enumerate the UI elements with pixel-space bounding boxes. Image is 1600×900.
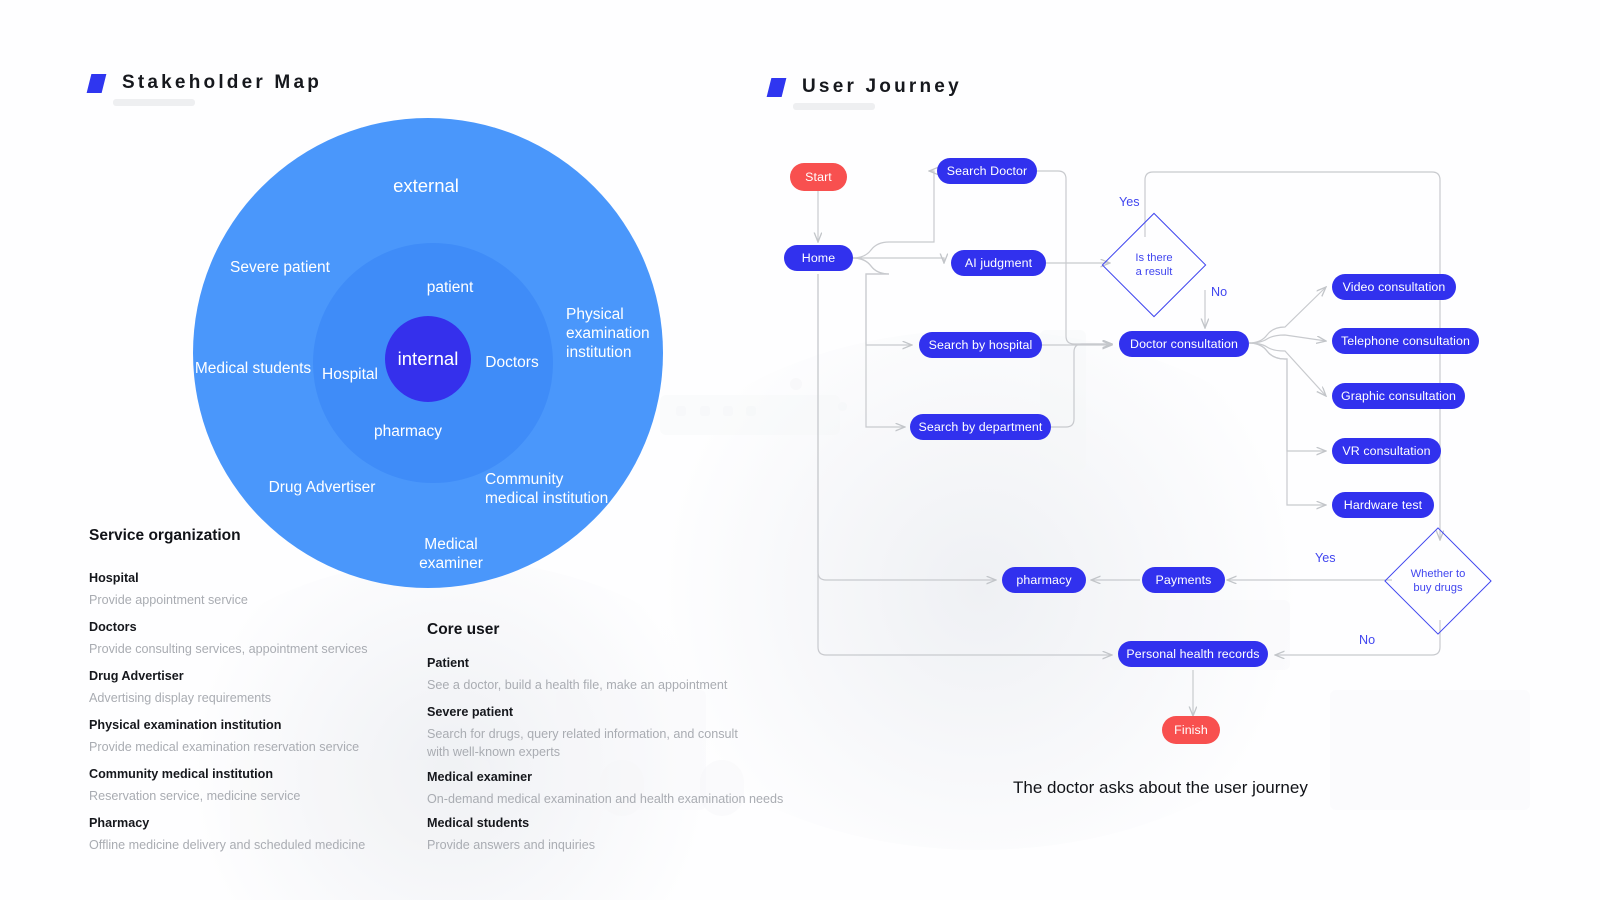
decision-label: Whether to buy drugs	[1411, 567, 1466, 596]
flow-node-pharmacy[interactable]: pharmacy	[1002, 567, 1086, 593]
edge-label-no-result: No	[1211, 285, 1227, 299]
service-org-desc: Provide appointment service	[89, 592, 489, 610]
flow-node-vr-consultation[interactable]: VR consultation	[1332, 438, 1441, 464]
core-user-desc: Search for drugs, query related informat…	[427, 726, 757, 762]
section-underline-journey	[793, 103, 875, 110]
ring-label-hospital: Hospital	[317, 366, 383, 385]
ring-label-physical-examination-institution: Physical examination institution	[566, 306, 674, 363]
flow-node-payments[interactable]: Payments	[1142, 567, 1225, 593]
core-user-title: Core user	[427, 621, 499, 639]
edge-label-yes-buy-drugs: Yes	[1315, 551, 1336, 565]
core-user-name: Medical students	[427, 816, 847, 831]
ring-label-medical-examiner: Medical examiner	[392, 536, 510, 574]
flow-node-ai-judgment[interactable]: AI judgment	[951, 250, 1046, 276]
flow-node-video-consultation[interactable]: Video consultation	[1332, 274, 1456, 300]
edge-label-no-buy-drugs: No	[1359, 633, 1375, 647]
ring-label-severe-patient: Severe patient	[228, 259, 332, 278]
service-org-name: Hospital	[89, 571, 489, 586]
list-item: Hospital Provide appointment service	[89, 571, 489, 610]
ring-label-drug-advertiser: Drug Advertiser	[264, 479, 380, 498]
flow-node-search-doctor[interactable]: Search Doctor	[937, 158, 1037, 184]
flow-node-telephone-consultation[interactable]: Telephone consultation	[1332, 328, 1479, 354]
list-item: Patient See a doctor, build a health fil…	[427, 656, 847, 695]
ring-label-doctors: Doctors	[481, 354, 543, 373]
section-marker-icon	[87, 74, 107, 93]
flow-node-start[interactable]: Start	[790, 163, 847, 191]
flow-node-home[interactable]: Home	[784, 245, 853, 271]
section-header-journey: User Journey	[769, 76, 962, 98]
ring-label-community-medical-institution: Community medical institution	[485, 471, 621, 509]
section-underline-stakeholder	[113, 99, 195, 106]
page-root: Stakeholder Map User Journey external in…	[0, 0, 1600, 900]
list-item: Medical examiner On-demand medical exami…	[427, 770, 847, 809]
core-user-name: Severe patient	[427, 705, 757, 720]
ring-label-medical-students: Medical students	[193, 360, 313, 379]
core-user-desc: On-demand medical examination and health…	[427, 791, 847, 809]
core-user-name: Medical examiner	[427, 770, 847, 785]
core-user-desc: See a doctor, build a health file, make …	[427, 677, 847, 695]
core-user-desc: Provide answers and inquiries	[427, 837, 847, 855]
flow-node-search-by-department[interactable]: Search by department	[910, 414, 1051, 440]
edge-label-yes-result: Yes	[1119, 195, 1140, 209]
ring-label-patient: patient	[399, 279, 501, 298]
list-item: Medical students Provide answers and inq…	[427, 816, 847, 855]
core-user-name: Patient	[427, 656, 847, 671]
flow-node-personal-health-records[interactable]: Personal health records	[1118, 641, 1268, 667]
decision-label: Is there a result	[1135, 251, 1172, 280]
flow-node-hardware-test[interactable]: Hardware test	[1332, 492, 1434, 518]
section-title-journey: User Journey	[802, 76, 962, 98]
flow-decision-is-there-a-result[interactable]: Is there a result	[1117, 228, 1191, 302]
ring-label-internal: internal	[385, 348, 471, 371]
flow-node-finish[interactable]: Finish	[1162, 716, 1220, 744]
section-marker-icon	[767, 78, 787, 97]
flow-node-doctor-consultation[interactable]: Doctor consultation	[1119, 331, 1249, 357]
ring-label-external: external	[356, 175, 496, 198]
section-title-stakeholder: Stakeholder Map	[122, 72, 322, 94]
service-organization-title: Service organization	[89, 527, 241, 545]
flow-node-search-by-hospital[interactable]: Search by hospital	[919, 332, 1042, 358]
ring-label-pharmacy: pharmacy	[357, 423, 459, 442]
flow-decision-whether-to-buy-drugs[interactable]: Whether to buy drugs	[1400, 543, 1476, 619]
flow-node-graphic-consultation[interactable]: Graphic consultation	[1332, 383, 1465, 409]
list-item: Severe patient Search for drugs, query r…	[427, 705, 757, 762]
journey-caption: The doctor asks about the user journey	[1013, 778, 1308, 798]
section-header-stakeholder: Stakeholder Map	[89, 72, 322, 94]
